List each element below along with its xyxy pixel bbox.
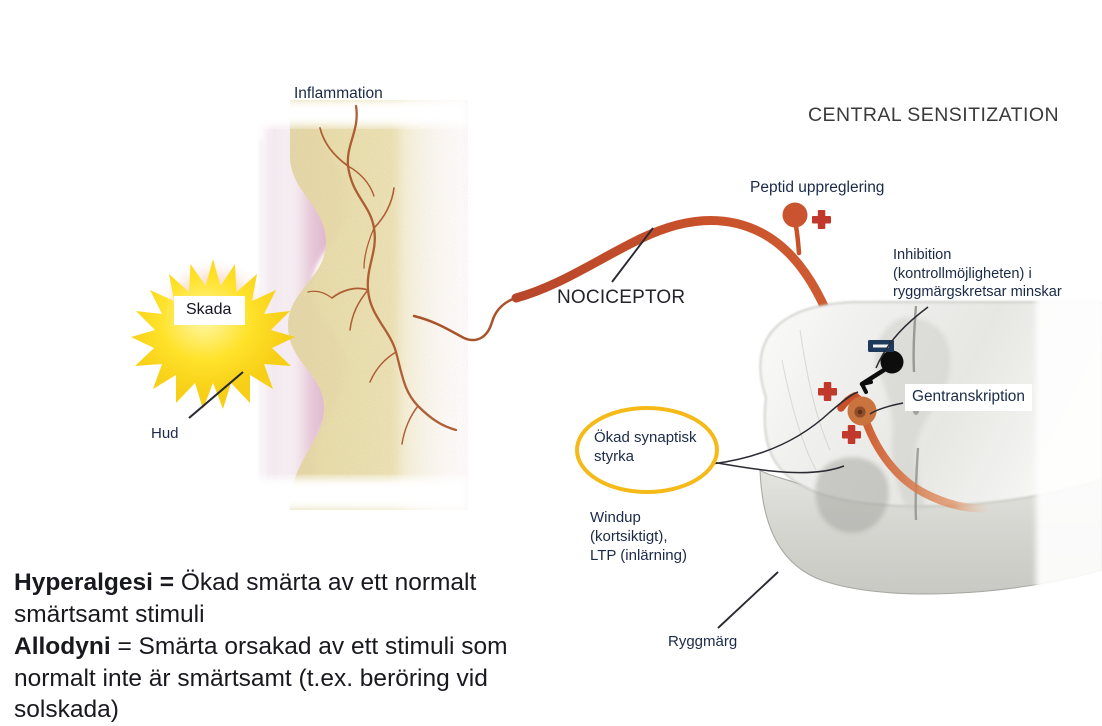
definition-hyperalgesi: Hyperalgesi = Ökad smärta av ett normalt… bbox=[14, 567, 534, 631]
figure-title: CENTRAL SENSITIZATION bbox=[808, 103, 1059, 128]
allodyni-term: Allodyni bbox=[14, 633, 111, 660]
label-hud: Hud bbox=[151, 424, 179, 443]
label-skada: Skada bbox=[186, 301, 231, 318]
skada-label-box: Skada bbox=[174, 296, 245, 325]
peripheral-nerve-fiber bbox=[414, 296, 522, 340]
definition-allodyni: Allodyni = Smärta orsakad av ett stimuli… bbox=[14, 631, 534, 726]
hyperalgesi-term: Hyperalgesi = bbox=[14, 569, 181, 596]
label-windup: Windup (kortsiktigt), LTP (inlärning) bbox=[590, 508, 687, 566]
label-inhibition: Inhibition (kontrollmöjligheten) i ryggm… bbox=[893, 246, 1062, 302]
label-okad-synaptisk-styrka: Ökad synaptisk styrka bbox=[594, 428, 697, 466]
ryggmarg-leader-line bbox=[718, 572, 778, 628]
label-inflammation: Inflammation bbox=[294, 84, 383, 104]
definitions-block: Hyperalgesi = Ökad smärta av ett normalt… bbox=[14, 567, 534, 726]
minus-badge bbox=[868, 340, 894, 352]
label-peptid-uppreglering: Peptid uppreglering bbox=[750, 178, 884, 198]
skada-starburst bbox=[131, 256, 295, 409]
soma-nucleus bbox=[858, 410, 863, 415]
star-shape bbox=[131, 259, 295, 409]
peptide-branch bbox=[796, 226, 799, 253]
label-nociceptor: NOCICEPTOR bbox=[557, 286, 685, 310]
plus-sign-peptide bbox=[812, 210, 831, 229]
figure-canvas: Inflammation Skada Hud NOCICEPTOR CENTRA… bbox=[0, 0, 1102, 722]
label-ryggmarg: Ryggmärg bbox=[668, 632, 737, 651]
label-gentranskription: Gentranskription bbox=[905, 384, 1032, 411]
spinal-cord-illustration bbox=[760, 290, 1102, 594]
peptide-bouton bbox=[783, 203, 808, 228]
